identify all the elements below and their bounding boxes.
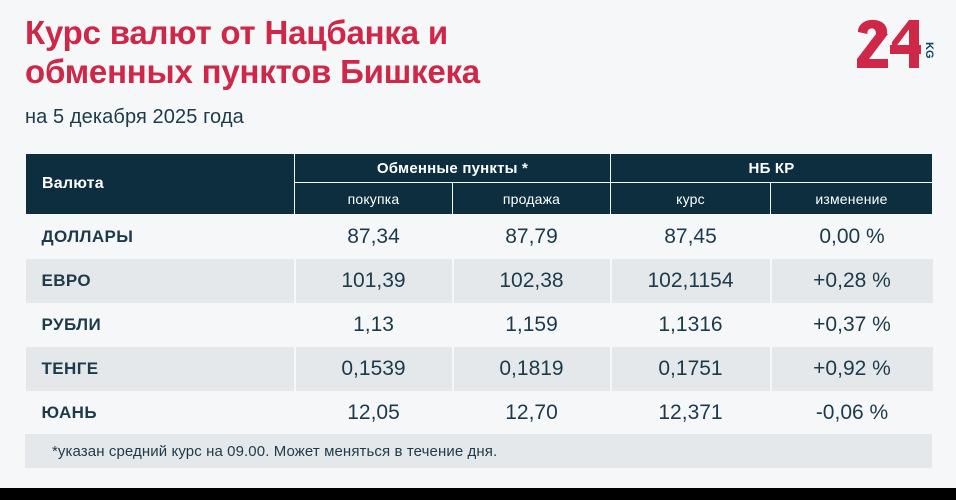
cell-change: -0,06 % xyxy=(771,391,933,435)
cell-currency-name: ЕВРО xyxy=(26,259,295,303)
page-subtitle-date: на 5 декабря 2025 года xyxy=(25,106,845,129)
cell-currency-name: ТЕНГЕ xyxy=(26,347,295,391)
cell-buy: 87,34 xyxy=(295,215,453,260)
column-group-exchange-offices: Обменные пункты * xyxy=(295,154,611,183)
table-head-group-row: Валюта Обменные пункты * НБ КР xyxy=(26,154,933,183)
column-header-sell: продажа xyxy=(453,183,611,215)
cell-buy: 0,1539 xyxy=(295,347,453,391)
24kg-logo-icon: KG xyxy=(854,18,938,70)
24kg-logo: KG xyxy=(854,18,938,70)
cell-nbkr-rate: 87,45 xyxy=(611,215,771,260)
cell-nbkr-rate: 102,1154 xyxy=(611,259,771,303)
table-row: РУБЛИ 1,13 1,159 1,1316 +0,37 % xyxy=(26,303,933,347)
currency-rates-table: Валюта Обменные пункты * НБ КР покупка п… xyxy=(25,154,933,435)
cell-currency-name: РУБЛИ xyxy=(26,303,295,347)
cell-sell: 87,79 xyxy=(453,215,611,260)
column-header-buy: покупка xyxy=(295,183,453,215)
table-row: ТЕНГЕ 0,1539 0,1819 0,1751 +0,92 % xyxy=(26,347,933,391)
footnote-text: *указан средний курс на 09.00. Может мен… xyxy=(25,443,497,460)
bottom-bar xyxy=(0,488,956,500)
page-title: Курс валют от Нацбанка и обменных пункто… xyxy=(25,14,845,92)
column-header-rate: курс xyxy=(611,183,771,215)
column-header-currency: Валюта xyxy=(26,154,295,215)
cell-buy: 101,39 xyxy=(295,259,453,303)
table-row: ЕВРО 101,39 102,38 102,1154 +0,28 % xyxy=(26,259,933,303)
column-group-national-bank: НБ КР xyxy=(611,154,933,183)
table-head: Валюта Обменные пункты * НБ КР покупка п… xyxy=(26,154,933,215)
cell-change: +0,28 % xyxy=(771,259,933,303)
cell-sell: 1,159 xyxy=(453,303,611,347)
cell-change: +0,37 % xyxy=(771,303,933,347)
svg-text:KG: KG xyxy=(923,42,935,59)
cell-nbkr-rate: 0,1751 xyxy=(611,347,771,391)
cell-change: 0,00 % xyxy=(771,215,933,260)
cell-sell: 12,70 xyxy=(453,391,611,435)
cell-currency-name: ДОЛЛАРЫ xyxy=(26,215,295,260)
cell-currency-name: ЮАНЬ xyxy=(26,391,295,435)
table-body: ДОЛЛАРЫ 87,34 87,79 87,45 0,00 % ЕВРО 10… xyxy=(26,215,933,436)
cell-sell: 102,38 xyxy=(453,259,611,303)
table-row: ДОЛЛАРЫ 87,34 87,79 87,45 0,00 % xyxy=(26,215,933,260)
cell-buy: 12,05 xyxy=(295,391,453,435)
footnote-strip: *указан средний курс на 09.00. Может мен… xyxy=(25,434,932,468)
cell-sell: 0,1819 xyxy=(453,347,611,391)
cell-nbkr-rate: 1,1316 xyxy=(611,303,771,347)
cell-nbkr-rate: 12,371 xyxy=(611,391,771,435)
column-header-change: изменение xyxy=(771,183,933,215)
table-row: ЮАНЬ 12,05 12,70 12,371 -0,06 % xyxy=(26,391,933,435)
cell-buy: 1,13 xyxy=(295,303,453,347)
cell-change: +0,92 % xyxy=(771,347,933,391)
infographic-canvas: Курс валют от Нацбанка и обменных пункто… xyxy=(0,0,956,500)
header-block: Курс валют от Нацбанка и обменных пункто… xyxy=(25,14,845,129)
